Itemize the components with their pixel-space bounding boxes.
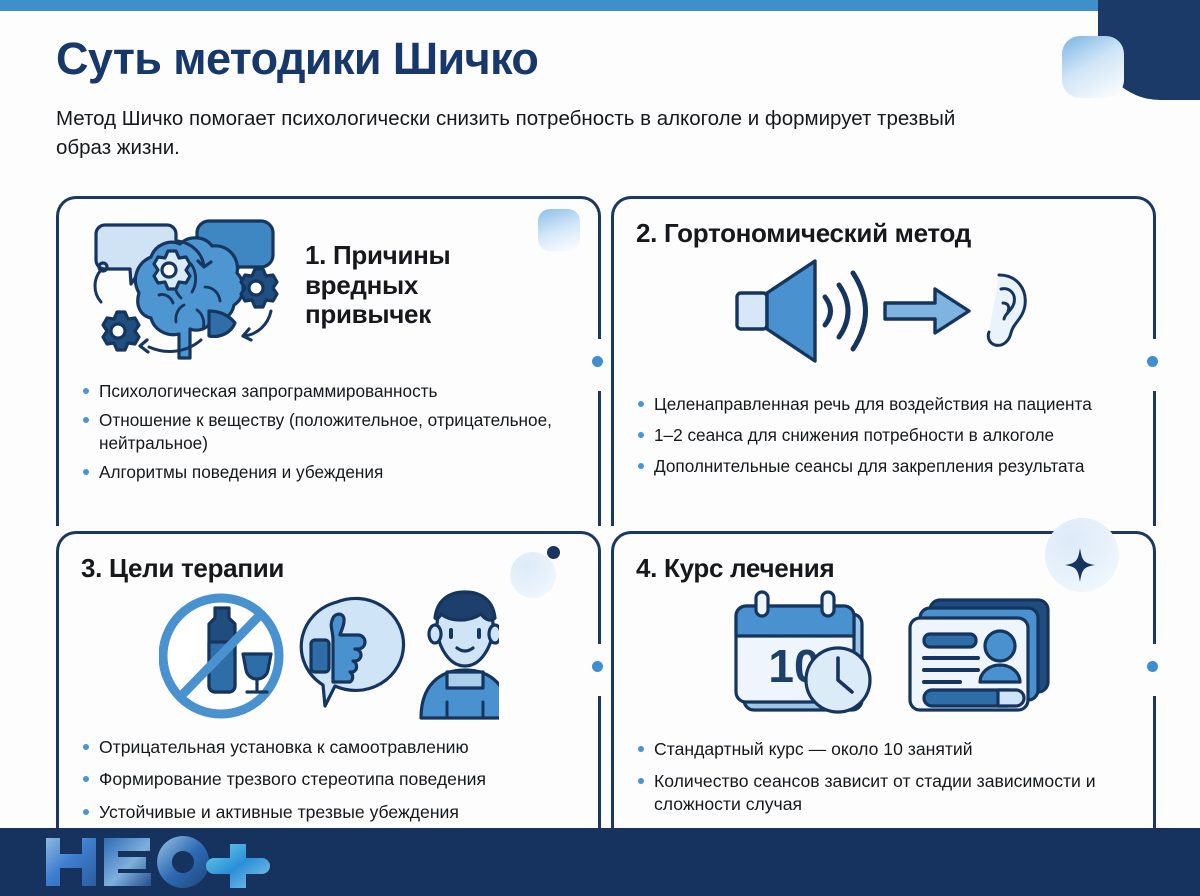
top-accent-bar [0, 0, 1098, 11]
list-item: 1–2 сеанса для снижения потребности в ал… [636, 424, 1131, 446]
list-item: Психологическая запрограммированность [81, 380, 576, 402]
card-causes: 1. Причины вредных привычек Психологичес… [56, 196, 601, 526]
list-item: Стандартный курс — около 10 занятий [636, 738, 1131, 761]
decoration-star-icon [1065, 548, 1095, 587]
list-item: Целенаправленная речь для воздействия на… [636, 393, 1131, 415]
list-item: Формирование трезвого стереотипа поведен… [81, 768, 576, 791]
infographic-page: Суть методики Шичко Метод Шичко помогает… [0, 0, 1200, 896]
card-border-dot [1147, 356, 1158, 367]
decoration-navy-dot [547, 546, 560, 559]
card-title: 2. Гортономический метод [636, 215, 1131, 249]
card-hortonomic-method: 2. Гортономический метод [611, 196, 1156, 526]
card-therapy-goals: 3. Цели терапии [56, 531, 601, 831]
decoration-gradient-square [538, 209, 580, 251]
card-header: 1. Причины вредных привычек [81, 215, 576, 370]
list-item: Дополнительные сеансы для закрепления ре… [636, 455, 1131, 477]
card-title: 1. Причины вредных привычек [305, 215, 520, 330]
list-item: Отрицательная установка к самоотравлению [81, 736, 576, 759]
decoration-soft-circle [510, 552, 556, 598]
footer [0, 828, 1200, 896]
card-bullet-list: Психологическая запрограммированность От… [81, 380, 576, 483]
header: Суть методики Шичко Метод Шичко помогает… [56, 34, 1076, 162]
cards-grid: 1. Причины вредных привычек Психологичес… [56, 196, 1156, 826]
card-bullet-list: Отрицательная установка к самоотравлению… [81, 736, 576, 825]
brand-logo [42, 834, 292, 895]
brain-gears-speech-icon [81, 215, 291, 370]
card-title: 3. Цели терапии [81, 550, 576, 584]
card-border-dot [592, 356, 603, 367]
card-bullet-list: Стандартный курс — около 10 занятий Коли… [636, 738, 1131, 817]
list-item: Отношение к веществу (положительное, отр… [81, 409, 576, 454]
calendar-10-clock-cards-icon: 10 [636, 590, 1131, 718]
page-subtitle: Метод Шичко помогает психологически сниз… [56, 104, 956, 162]
list-item: Количество сеансов зависит от стадии зав… [636, 770, 1131, 816]
card-border-dot [1147, 661, 1158, 672]
list-item: Алгоритмы поведения и убеждения [81, 461, 576, 483]
speaker-arrow-ear-icon [636, 255, 1131, 367]
no-alcohol-thumbsup-person-icon [81, 590, 576, 722]
page-title: Суть методики Шичко [56, 34, 1076, 84]
card-border-dot [592, 661, 603, 672]
card-bullet-list: Целенаправленная речь для воздействия на… [636, 393, 1131, 478]
list-item: Устойчивые и активные трезвые убеждения [81, 801, 576, 824]
card-treatment-course: 4. Курс лечения 10 [611, 531, 1156, 831]
